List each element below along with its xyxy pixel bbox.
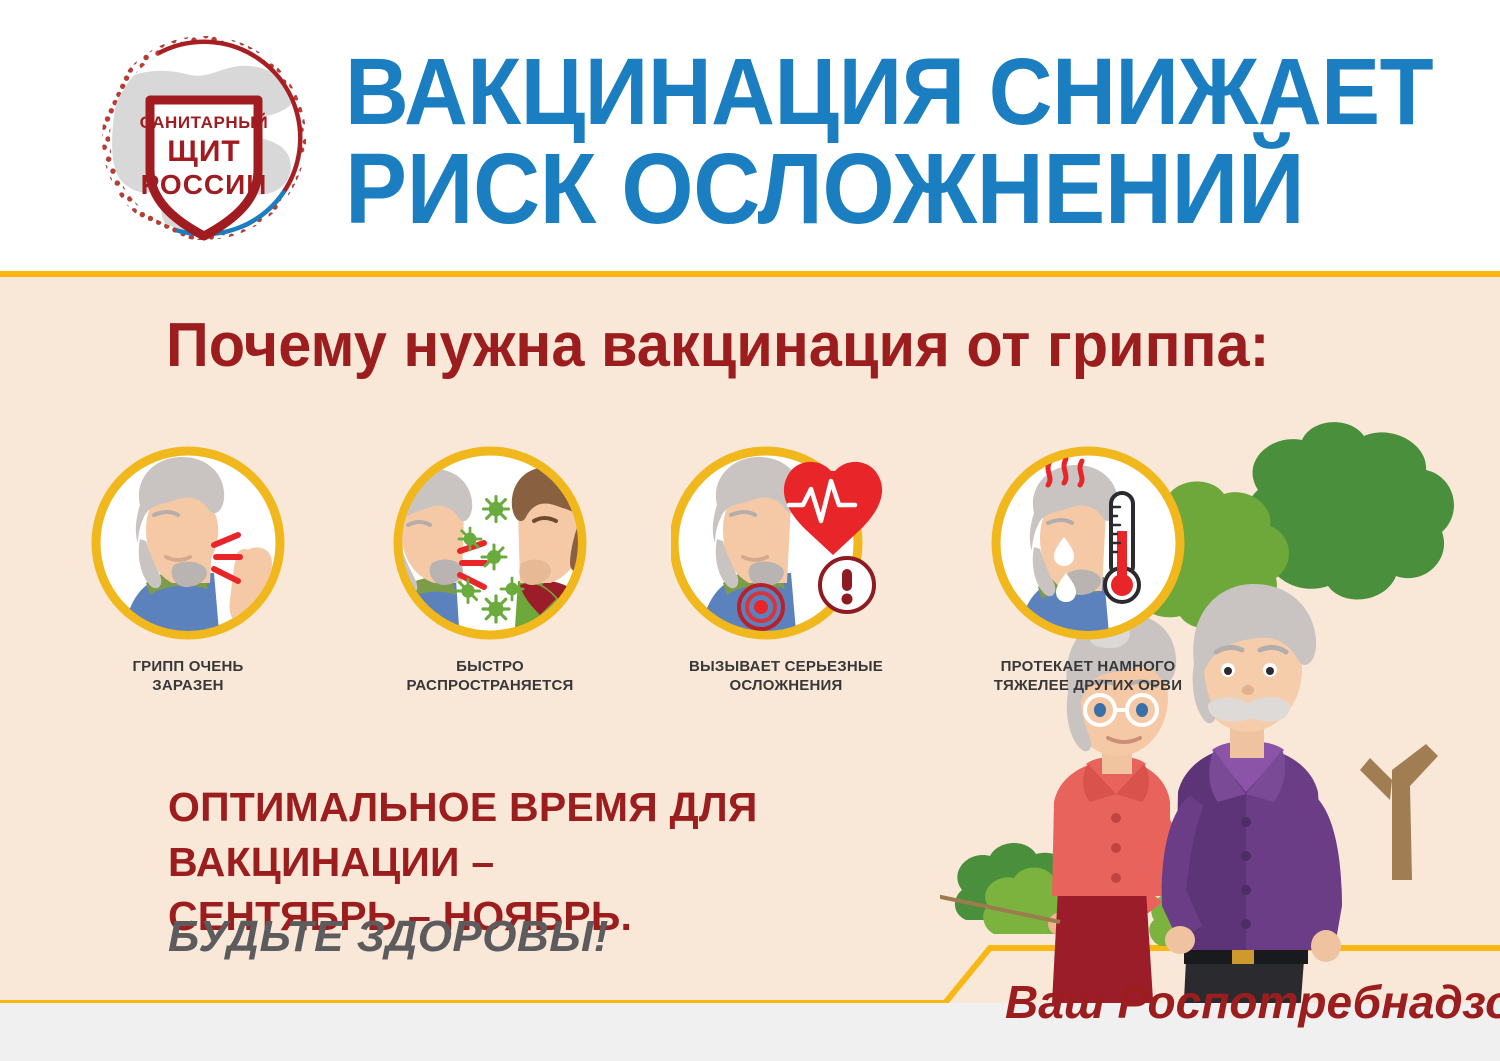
reason-label-1: ГРИПП ОЧЕНЬ ЗАРАЗЕН bbox=[38, 657, 338, 695]
reason-label-4: ПРОТЕКАЕТ НАМНОГО ТЯЖЕЛЕЕ ДРУГИХ ОРВИ bbox=[938, 657, 1238, 695]
logo-line-1: САНИТАРНЫЙ bbox=[140, 113, 269, 132]
footer-organization-name: Ваш Роспотребнадзор bbox=[1005, 975, 1500, 1029]
title-line-2: РИСК ОСЛОЖНЕНИЙ bbox=[345, 140, 1349, 238]
reason-item-3: ВЫЗЫВАЕТ СЕРЬЕЗНЫЕ ОСЛОЖНЕНИЯ bbox=[636, 443, 936, 695]
reason-item-4: ПРОТЕКАЕТ НАМНОГО ТЯЖЕЛЕЕ ДРУГИХ ОРВИ bbox=[938, 443, 1238, 695]
warning-exclamation-icon bbox=[820, 558, 874, 612]
reason-item-2: БЫСТРО РАСПРОСТРАНЯЕТСЯ bbox=[340, 443, 640, 695]
thermometer-shape bbox=[1105, 493, 1139, 602]
poster-root: САНИТАРНЫЙ ЩИТ РОССИИ ВАКЦИНАЦИЯ СНИЖАЕТ… bbox=[0, 0, 1500, 1061]
section-subtitle: Почему нужна вакцинация от гриппа: bbox=[166, 315, 1269, 377]
reason-label-2: БЫСТРО РАСПРОСТРАНЯЕТСЯ bbox=[340, 657, 640, 695]
reason-item-1: ГРИПП ОЧЕНЬ ЗАРАЗЕН bbox=[38, 443, 338, 695]
heart-complication-icon bbox=[636, 443, 936, 648]
sanitary-shield-of-russia-emblem: САНИТАРНЫЙ ЩИТ РОССИИ bbox=[68, 22, 340, 254]
fever-thermometer-icon bbox=[938, 443, 1238, 648]
reasons-row: ГРИПП ОЧЕНЬ ЗАРАЗЕН bbox=[0, 443, 1280, 703]
be-healthy-slogan: БУДЬТЕ ЗДОРОВЫ! bbox=[168, 912, 609, 962]
logo-line-3: РОССИИ bbox=[141, 169, 268, 200]
header-band: САНИТАРНЫЙ ЩИТ РОССИИ ВАКЦИНАЦИЯ СНИЖАЕТ… bbox=[0, 0, 1500, 277]
title-line-1: ВАКЦИНАЦИЯ СНИЖАЕТ bbox=[345, 46, 1349, 139]
logo-line-2: ЩИТ bbox=[167, 135, 240, 168]
reason-label-3: ВЫЗЫВАЕТ СЕРЬЕЗНЫЕ ОСЛОЖНЕНИЯ bbox=[636, 657, 936, 695]
virus-spread-icon bbox=[340, 443, 640, 648]
page-title: ВАКЦИНАЦИЯ СНИЖАЕТ РИСК ОСЛОЖНЕНИЙ bbox=[345, 22, 1425, 262]
coughing-person-icon bbox=[38, 443, 338, 648]
